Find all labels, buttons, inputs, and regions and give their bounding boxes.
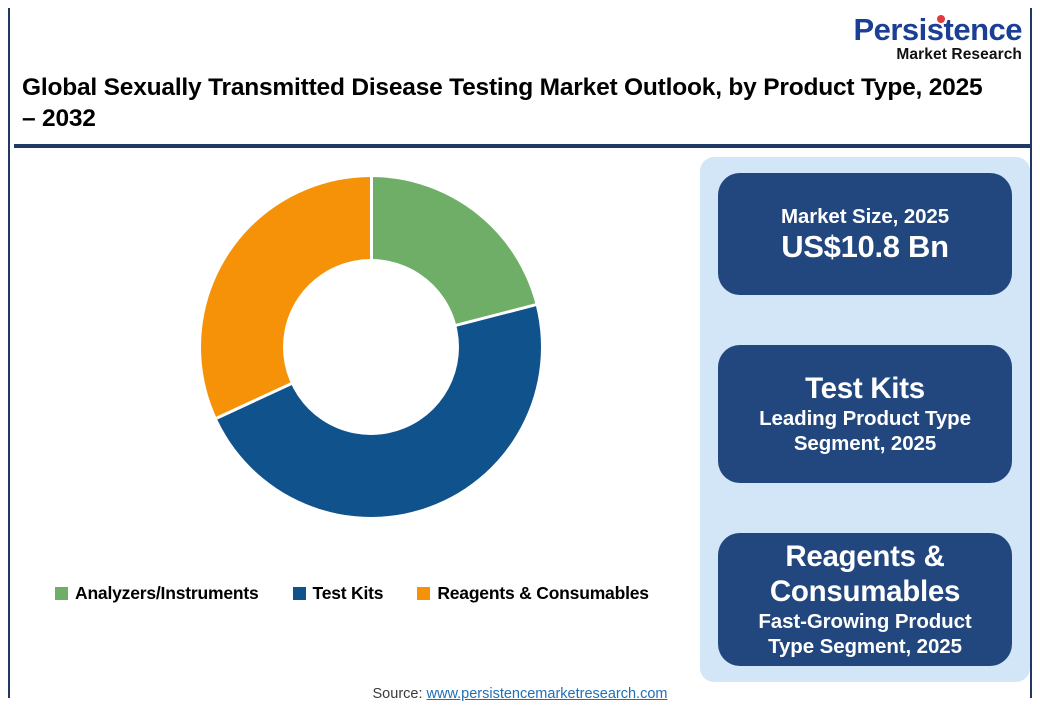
- card-fast-growing-name-line2: Consumables: [770, 575, 960, 610]
- title-divider: [14, 144, 1030, 148]
- legend-item-label: Test Kits: [313, 583, 384, 604]
- infographic-page: Persistence Market Research Global Sexua…: [0, 0, 1040, 720]
- card-market-size-value: US$10.8 Bn: [781, 229, 949, 265]
- highlight-card-market-size: Market Size, 2025 US$10.8 Bn: [718, 173, 1012, 295]
- slice-separator: [370, 177, 373, 347]
- brand-logo: Persistence Market Research: [853, 14, 1022, 63]
- card-leading-segment-desc-line2: Segment, 2025: [794, 431, 936, 456]
- legend-item-label: Reagents & Consumables: [437, 583, 649, 604]
- legend-item: Test Kits: [293, 583, 384, 604]
- source-link[interactable]: www.persistencemarketresearch.com: [427, 686, 668, 702]
- card-market-size-label: Market Size, 2025: [781, 204, 949, 229]
- source-line: Source: www.persistencemarketresearch.co…: [0, 686, 1040, 702]
- card-leading-segment-name: Test Kits: [805, 372, 925, 407]
- donut-chart: [201, 177, 541, 517]
- frame-border-left: [8, 8, 10, 698]
- legend-item: Reagents & Consumables: [417, 583, 649, 604]
- card-fast-growing-name-line1: Reagents &: [785, 540, 944, 575]
- highlight-card-leading-segment: Test Kits Leading Product Type Segment, …: [718, 345, 1012, 483]
- frame-border-right: [1030, 8, 1032, 698]
- legend-swatch-icon: [293, 587, 306, 600]
- legend-item: Analyzers/Instruments: [55, 583, 259, 604]
- card-fast-growing-desc-line2: Type Segment, 2025: [768, 634, 962, 659]
- source-prefix: Source:: [373, 686, 427, 702]
- card-fast-growing-desc-line1: Fast-Growing Product: [758, 609, 971, 634]
- brand-logo-sub: Market Research: [853, 47, 1022, 63]
- chart-legend: Analyzers/Instruments Test Kits Reagents…: [55, 583, 649, 604]
- highlight-card-fast-growing-segment: Reagents & Consumables Fast-Growing Prod…: [718, 533, 1012, 666]
- legend-swatch-icon: [55, 587, 68, 600]
- legend-swatch-icon: [417, 587, 430, 600]
- page-title: Global Sexually Transmitted Disease Test…: [22, 72, 1002, 135]
- legend-item-label: Analyzers/Instruments: [75, 583, 259, 604]
- card-leading-segment-desc-line1: Leading Product Type: [759, 406, 971, 431]
